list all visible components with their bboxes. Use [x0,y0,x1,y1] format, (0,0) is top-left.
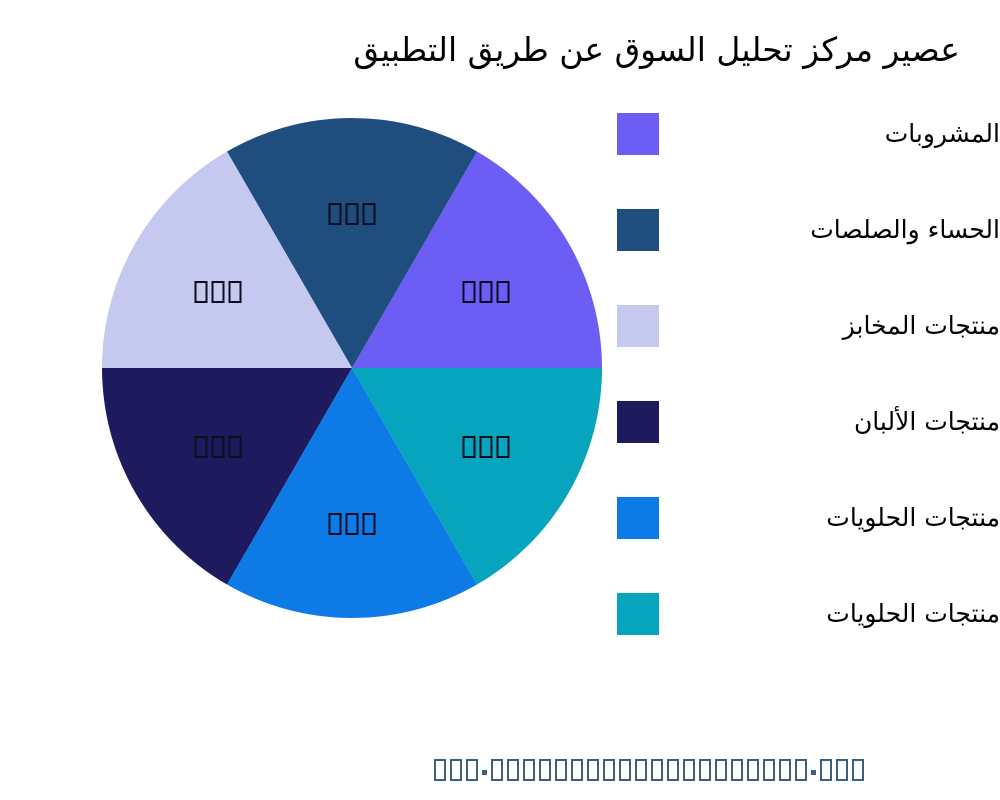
tofu-glyph [450,759,462,781]
tofu-glyph [603,759,615,781]
tofu-glyph [747,759,759,781]
legend-item-label: منتجات الحلويات [673,494,1000,542]
tofu-glyph [651,759,663,781]
tofu-glyph [466,759,478,781]
tofu-glyph [795,759,807,781]
tofu-glyph [523,759,535,781]
legend-item-label: منتجات الحلويات [673,590,1000,638]
legend-color-swatch [617,305,659,347]
legend-color-swatch [617,209,659,251]
legend-color-swatch [617,113,659,155]
legend-color-swatch [617,593,659,635]
tofu-glyph [836,759,848,781]
tofu-glyph [852,759,864,781]
watermark-text [432,752,866,786]
chart-legend: المشروباتالحساء والصلصاتمنتجات المخابزمن… [617,110,1000,680]
legend-item[interactable]: منتجات الحلويات [617,494,1000,542]
tofu-glyph [491,759,503,781]
pie-chart-figure: عصير مركز تحليل السوق عن طريق التطبيق ال… [0,0,1000,800]
tofu-glyph [507,759,519,781]
legend-item[interactable]: المشروبات [617,110,1000,158]
tofu-glyph [555,759,567,781]
tofu-glyph [619,759,631,781]
legend-item-label: الحساء والصلصات [673,206,1000,254]
tofu-glyph [699,759,711,781]
tofu-glyph [667,759,679,781]
tofu-glyph [731,759,743,781]
tofu-glyph [635,759,647,781]
tofu-glyph [587,759,599,781]
legend-item-label: المشروبات [673,110,1000,158]
legend-color-swatch [617,497,659,539]
legend-item[interactable]: منتجات الحلويات [617,590,1000,638]
tofu-glyph [779,759,791,781]
tofu-glyph [763,759,775,781]
tofu-glyph [571,759,583,781]
watermark-dot [811,770,816,775]
legend-item[interactable]: منتجات المخابز [617,302,1000,350]
tofu-glyph [683,759,695,781]
tofu-glyph [434,759,446,781]
tofu-glyph [820,759,832,781]
watermark-dot [482,770,487,775]
tofu-glyph [539,759,551,781]
legend-item-label: منتجات المخابز [673,302,1000,350]
legend-item[interactable]: منتجات الألبان [617,398,1000,446]
tofu-glyph [715,759,727,781]
legend-item-label: منتجات الألبان [673,398,1000,446]
legend-color-swatch [617,401,659,443]
legend-item[interactable]: الحساء والصلصات [617,206,1000,254]
pie-slice-group [102,118,602,618]
